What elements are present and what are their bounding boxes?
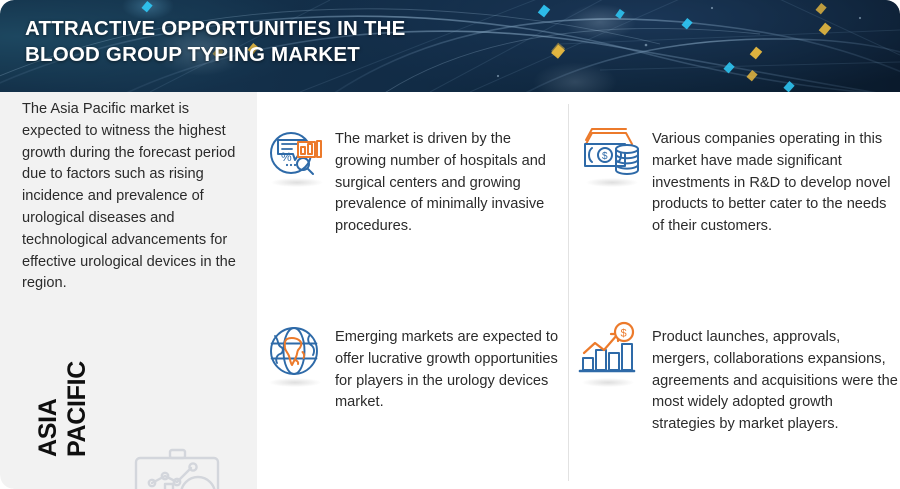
left-region-panel: The Asia Pacific market is expected to w… (0, 92, 257, 489)
column-divider (568, 104, 569, 481)
globe-world-icon (263, 320, 325, 382)
pie-chart-bar-chart-analytics-icon: % (265, 120, 327, 182)
icon-shadow (586, 178, 638, 187)
infographic-card: ATTRACTIVE OPPORTUNITIES IN THE BLOOD GR… (0, 0, 900, 489)
page-title: ATTRACTIVE OPPORTUNITIES IN THE BLOOD GR… (25, 16, 565, 68)
svg-text:$: $ (621, 328, 627, 340)
region-label: ASIA PACIFIC (0, 344, 128, 474)
icon-shadow (269, 378, 321, 387)
icon-shadow (582, 378, 634, 387)
growth-bar-chart-dollar-icon: $ (576, 320, 638, 382)
icon-shadow (271, 178, 323, 187)
region-label-text: ASIA PACIFIC (34, 361, 92, 457)
presentation-chart-magnifier-icon (128, 444, 234, 489)
region-description: The Asia Pacific market is expected to w… (22, 99, 240, 295)
svg-text:%: % (281, 150, 292, 164)
cell-text: Product launches, approvals, mergers, co… (652, 327, 898, 436)
header-banner: ATTRACTIVE OPPORTUNITIES IN THE BLOOD GR… (0, 0, 900, 92)
cell-text: Various companies operating in this mark… (652, 129, 900, 238)
cell-text: Emerging markets are expected to offer l… (335, 327, 563, 414)
cell-text: The market is driven by the growing numb… (335, 129, 557, 238)
content-area: The Asia Pacific market is expected to w… (0, 92, 900, 489)
svg-text:$: $ (602, 151, 608, 162)
money-cash-coins-investment-icon: $ (580, 120, 642, 182)
